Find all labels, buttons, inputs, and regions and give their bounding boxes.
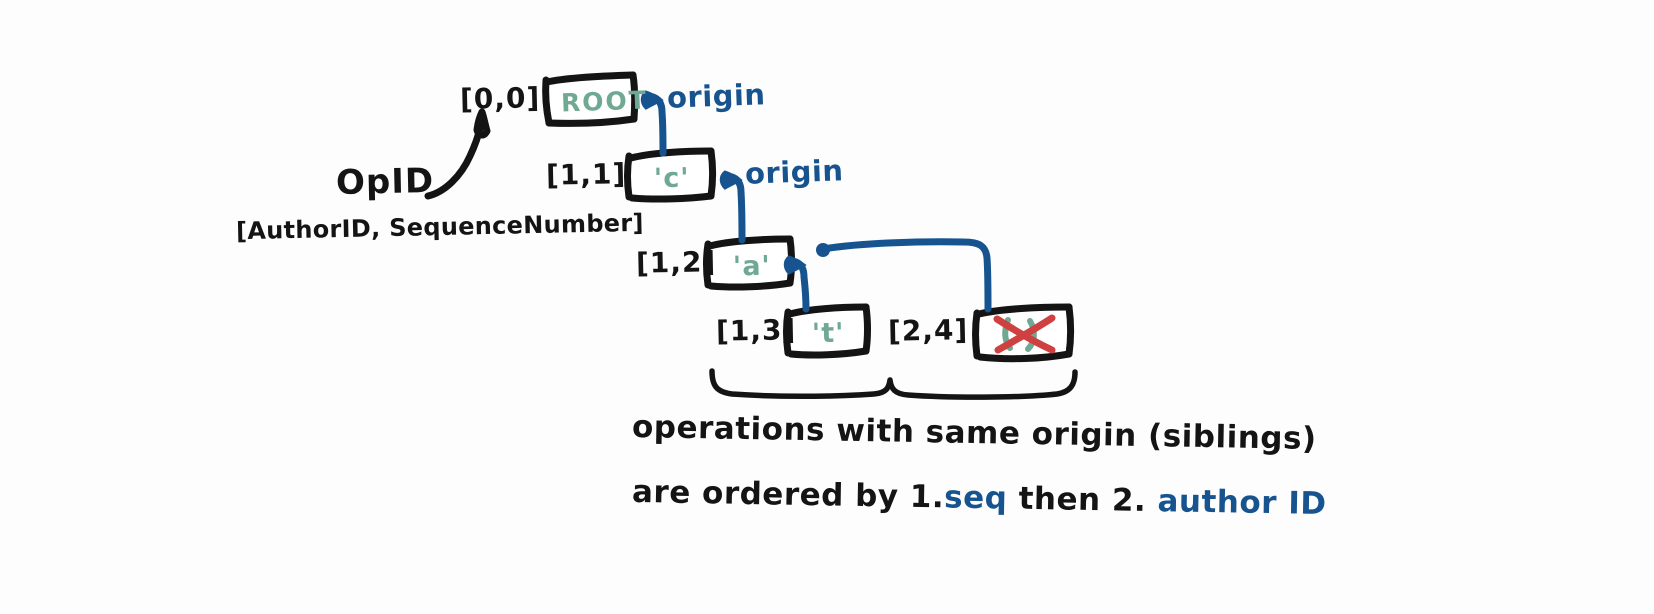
node-content-a: 'a' xyxy=(733,253,771,281)
node-id-deleted: [2,4] xyxy=(888,316,969,346)
node-content-c: 'c' xyxy=(654,165,690,193)
opid-pointer-arrow xyxy=(428,112,487,196)
node-id-a: [1,2] xyxy=(636,248,717,278)
brace-note-line2-part1: are ordered by 1. xyxy=(632,474,945,515)
sketch-canvas: OpID [AuthorID, SequenceNumber] [0,0] [1… xyxy=(0,0,1654,614)
node-content-t: 't' xyxy=(812,320,845,348)
origin-label-root: origin xyxy=(667,80,766,112)
sibling-link-deleted-to-a xyxy=(816,242,988,309)
opid-legend-title: OpID xyxy=(336,164,435,200)
origin-label-c: origin xyxy=(745,156,844,188)
origin-arrow-a-to-c xyxy=(721,172,742,240)
brace-note-author-keyword: author ID xyxy=(1157,483,1327,522)
node-box-deleted[interactable] xyxy=(976,307,1071,359)
handdrawn-strokes-layer xyxy=(0,0,1654,614)
node-id-root: [0,0] xyxy=(460,84,541,114)
node-id-t: [1,3] xyxy=(716,316,797,346)
node-content-root: ROOT xyxy=(561,87,649,115)
brace-note-seq-keyword: seq xyxy=(944,479,1008,516)
brace-note-line2-part2: then 2. xyxy=(1007,480,1158,519)
node-id-c: [1,1] xyxy=(546,160,627,190)
siblings-brace xyxy=(712,371,1075,397)
